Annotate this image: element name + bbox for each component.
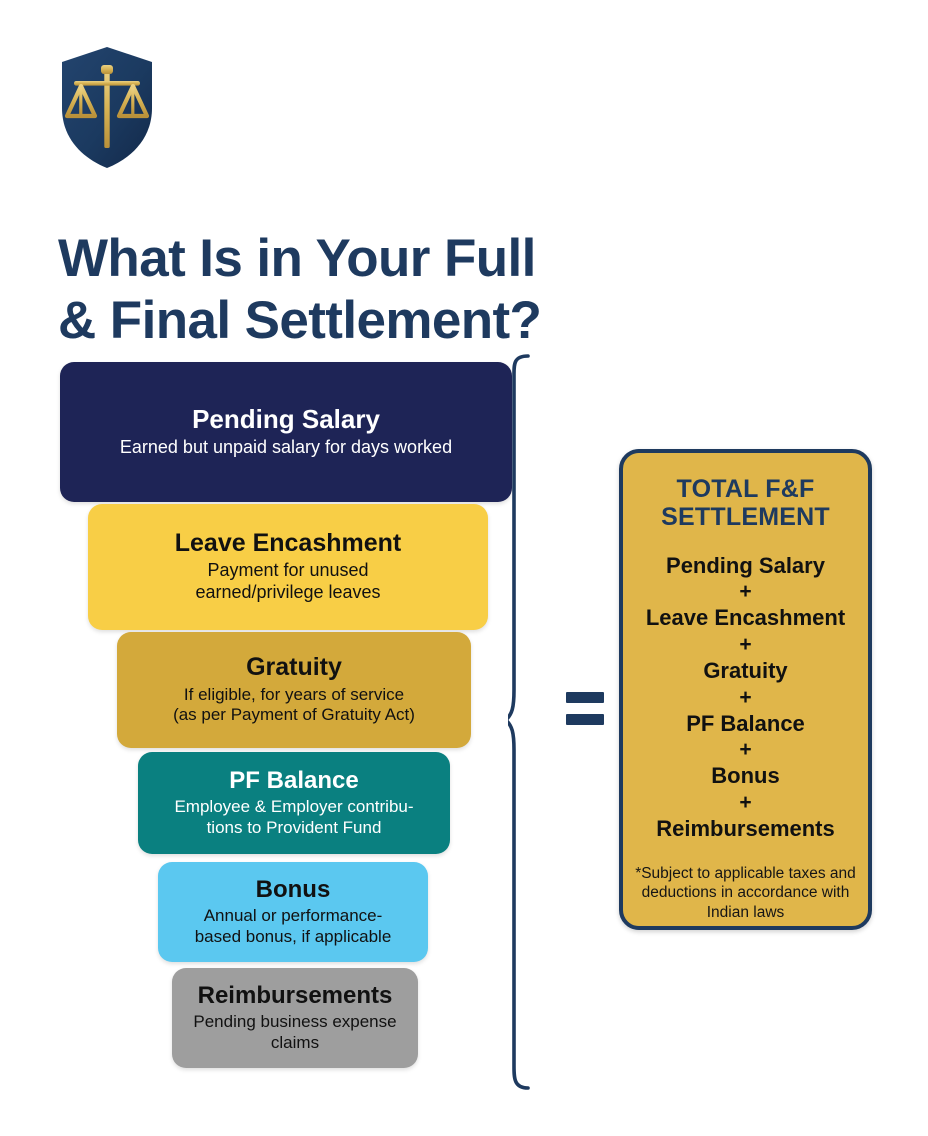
funnel-bar-title: PF Balance bbox=[229, 768, 358, 794]
funnel-bar-title: Bonus bbox=[256, 877, 331, 903]
settlement-components-funnel: Pending Salary Earned but unpaid salary … bbox=[0, 0, 560, 1136]
settlement-formula-list: Pending Salary + Leave Encashment + Grat… bbox=[635, 552, 856, 844]
total-panel-footnote: *Subject to applicable taxes and deducti… bbox=[635, 864, 856, 923]
funnel-bar-title: Gratuity bbox=[246, 654, 342, 682]
funnel-bar-bonus[interactable]: Bonus Annual or performance-based bonus,… bbox=[158, 862, 428, 962]
formula-operator-plus: + bbox=[635, 580, 856, 604]
equals-bar-bottom bbox=[566, 714, 604, 725]
formula-operator-plus: + bbox=[635, 686, 856, 710]
funnel-bar-description: Pending business expenseclaims bbox=[193, 1012, 396, 1053]
formula-item-pf-balance: PF Balance bbox=[635, 710, 856, 739]
funnel-bar-description: Annual or performance-based bonus, if ap… bbox=[195, 906, 392, 947]
funnel-bar-reimbursements[interactable]: Reimbursements Pending business expensec… bbox=[172, 968, 418, 1068]
total-panel-heading-line-2: SETTLEMENT bbox=[635, 503, 856, 531]
equals-bar-top bbox=[566, 692, 604, 703]
formula-operator-plus: + bbox=[635, 633, 856, 657]
funnel-bar-leave-encashment[interactable]: Leave Encashment Payment for unusedearne… bbox=[88, 504, 488, 630]
funnel-bar-description: If eligible, for years of service(as per… bbox=[173, 685, 415, 726]
funnel-bar-gratuity[interactable]: Gratuity If eligible, for years of servi… bbox=[117, 632, 471, 748]
funnel-bar-pending-salary[interactable]: Pending Salary Earned but unpaid salary … bbox=[60, 362, 512, 502]
curly-brace-icon bbox=[508, 352, 566, 1092]
formula-item-pending-salary: Pending Salary bbox=[635, 552, 856, 581]
formula-item-reimbursements: Reimbursements bbox=[635, 815, 856, 844]
formula-operator-plus: + bbox=[635, 791, 856, 815]
equals-sign-icon bbox=[566, 692, 604, 726]
total-settlement-panel[interactable]: TOTAL F&F SETTLEMENT Pending Salary + Le… bbox=[619, 449, 872, 930]
total-panel-heading-line-1: TOTAL F&F bbox=[635, 475, 856, 503]
funnel-bar-title: Leave Encashment bbox=[175, 530, 402, 558]
funnel-bar-description: Employee & Employer contribu-tions to Pr… bbox=[174, 797, 413, 838]
funnel-bar-description: Earned but unpaid salary for days worked bbox=[120, 437, 452, 459]
funnel-bar-pf-balance[interactable]: PF Balance Employee & Employer contribu-… bbox=[138, 752, 450, 854]
funnel-bar-title: Reimbursements bbox=[198, 983, 393, 1009]
formula-item-bonus: Bonus bbox=[635, 762, 856, 791]
funnel-bar-description: Payment for unusedearned/privilege leave… bbox=[195, 560, 380, 604]
formula-item-gratuity: Gratuity bbox=[635, 657, 856, 686]
formula-operator-plus: + bbox=[635, 738, 856, 762]
formula-item-leave-encashment: Leave Encashment bbox=[635, 604, 856, 633]
funnel-bar-title: Pending Salary bbox=[192, 405, 380, 434]
total-panel-heading: TOTAL F&F SETTLEMENT bbox=[635, 475, 856, 532]
